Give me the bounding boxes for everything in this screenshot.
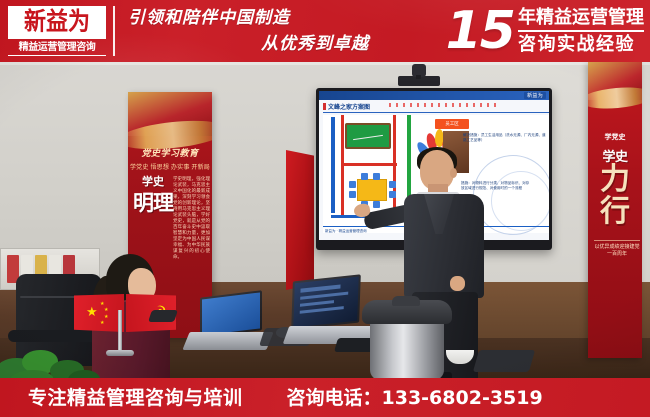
- experience-text: 年精益运营管理 咨询实战经验: [518, 6, 644, 56]
- slide-header-bar: 新益为: [319, 91, 549, 100]
- laptop-ui-row: [300, 284, 340, 292]
- poster-left-highlight-big: 明理: [132, 192, 174, 216]
- diagram-green-area: [345, 123, 391, 149]
- diagram-seat: [373, 201, 380, 208]
- poster-left-subtitle: 学党史 悟思想 办实事 开新局: [128, 162, 212, 171]
- slide-title-row: 文峰之家方案图: [323, 102, 370, 111]
- header-slogan: 引领和陪伴中国制造 从优秀到卓越: [124, 5, 389, 57]
- flag-stand-base: [106, 350, 134, 356]
- footer-contact[interactable]: 咨询电话：133-6802-3519: [287, 387, 543, 409]
- diagram-seat: [389, 181, 396, 188]
- diagram-seat: [389, 191, 396, 198]
- slogan-line-1: 引领和陪伴中国制造: [124, 5, 389, 31]
- logo-brand-text: 新益为: [24, 10, 90, 35]
- diagram-red-line-v2: [393, 115, 396, 215]
- laptop-ui-row: [300, 306, 344, 314]
- laptop-front-display: [202, 292, 260, 335]
- poster-right-top-text: 学党史: [588, 132, 642, 142]
- experience-line-2: 咨询实战经验: [518, 32, 644, 56]
- slide-text-block-1: 解决措施：员工生活用品（洗水无源、厂内无源、道路工艺品等）: [463, 133, 549, 143]
- diagram-blue-line-left: [331, 117, 335, 213]
- flag-stand-pole: [118, 310, 122, 352]
- potted-plant: [0, 348, 112, 378]
- slide-title-marker: [323, 103, 326, 110]
- promo-banner-page: 新益为 精益运营管理咨询 引领和陪伴中国制造 从优秀到卓越 15 年精益运营管理…: [0, 0, 650, 417]
- diagram-seat: [361, 173, 368, 180]
- camera-stem: [416, 75, 421, 79]
- laptop-ui-row: [300, 300, 334, 307]
- laptop-back-display: [293, 277, 358, 328]
- poster-right-title-big: 力行: [588, 164, 642, 228]
- slide-footer-text: 新益为 · 精益运营管理咨询: [325, 229, 367, 234]
- experience-badge: 15 年精益运营管理 咨询实战经验: [446, 2, 644, 60]
- flag-star-large-icon: ★: [86, 306, 98, 318]
- experience-line-1: 年精益运营管理: [518, 6, 644, 32]
- presenter-resting-hand: [450, 276, 465, 291]
- experience-number: 15: [446, 5, 514, 57]
- poster-left-title: 党史学习教育: [128, 146, 212, 159]
- presenter-ear: [450, 168, 457, 178]
- laptop-back-screen: [291, 274, 361, 329]
- header-divider: [113, 6, 115, 56]
- footer-bar: 专注精益管理咨询与培训 咨询电话：133-6802-3519: [0, 378, 650, 417]
- laptop-front-screen: [200, 290, 262, 338]
- training-session-photo: 党史学习教育 学党史 悟思想 办实事 开新局 学史 明理 学史明理，强化理论武装…: [0, 62, 650, 378]
- wall-red-flag: [286, 150, 314, 290]
- slide-decor-dots: [389, 103, 499, 107]
- party-history-poster-right: 学党史 学史 力行 以优异成绩迎接建党一百周年: [588, 62, 642, 358]
- diagram-red-line-h1: [341, 163, 397, 166]
- diagram-seat: [373, 173, 380, 180]
- slogan-line-2: 从优秀到卓越: [124, 31, 389, 57]
- desk-tray: [473, 350, 535, 372]
- header-bar: 新益为 精益运营管理咨询 引领和陪伴中国制造 从优秀到卓越 15 年精益运营管理…: [0, 0, 650, 62]
- china-national-flag: ★ ★ ★ ★ ★: [74, 294, 124, 332]
- diagram-seat: [349, 191, 356, 198]
- flag-star-small-icon: ★: [104, 308, 108, 313]
- desk-device: [148, 310, 178, 322]
- poster-left-highlight-small: 学史: [132, 176, 174, 189]
- slide-brand-logo: 新益为: [524, 92, 546, 99]
- flag-star-small-icon: ★: [100, 321, 104, 326]
- diagram-zone-tag-label: 员工区: [435, 119, 469, 129]
- slide-title-rule: [323, 112, 549, 113]
- footer-slogan: 专注精益管理咨询与培训: [28, 387, 243, 409]
- slide-title: 文峰之家方案图: [328, 102, 370, 111]
- flag-star-small-icon: ★: [104, 315, 108, 320]
- laptop-ui-row: [300, 292, 348, 300]
- poster-right-footer-text: 以优异成绩迎接建党一百周年: [594, 240, 640, 258]
- thermos-handle: [392, 296, 420, 306]
- wall-seam: [0, 62, 650, 65]
- diagram-arc-inner: [491, 171, 549, 231]
- diagram-zone-tag: 员工区: [435, 119, 469, 129]
- logo-brand-box: 新益为: [8, 6, 106, 39]
- diagram-table-block: [357, 179, 387, 201]
- company-logo[interactable]: 新益为 精益运营管理咨询: [8, 6, 106, 56]
- diagram-seat: [349, 181, 356, 188]
- logo-tagline: 精益运营管理咨询: [8, 40, 106, 56]
